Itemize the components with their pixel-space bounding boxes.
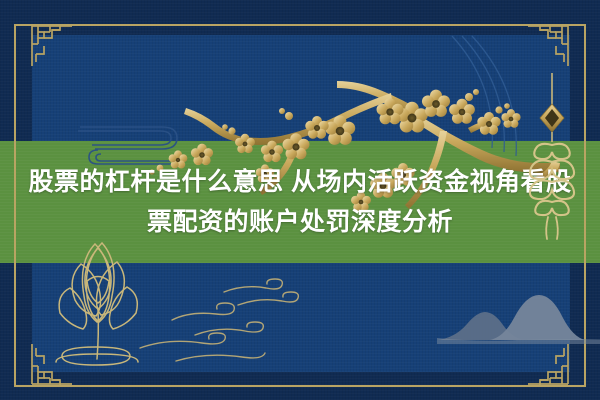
frame-line-top: [14, 24, 586, 26]
frame-line-bottom: [14, 385, 586, 387]
page-title: 股票的杠杆是什么意思 从场内活跃资金视角看股 票配资的账户处罚深度分析: [0, 141, 600, 263]
title-line-1: 股票的杠杆是什么意思 从场内活跃资金视角看股: [29, 162, 572, 202]
decorative-article-banner: 股票的杠杆是什么意思 从场内活跃资金视角看股 票配资的账户处罚深度分析: [0, 0, 600, 400]
title-line-2: 票配资的账户处罚深度分析: [147, 202, 453, 242]
